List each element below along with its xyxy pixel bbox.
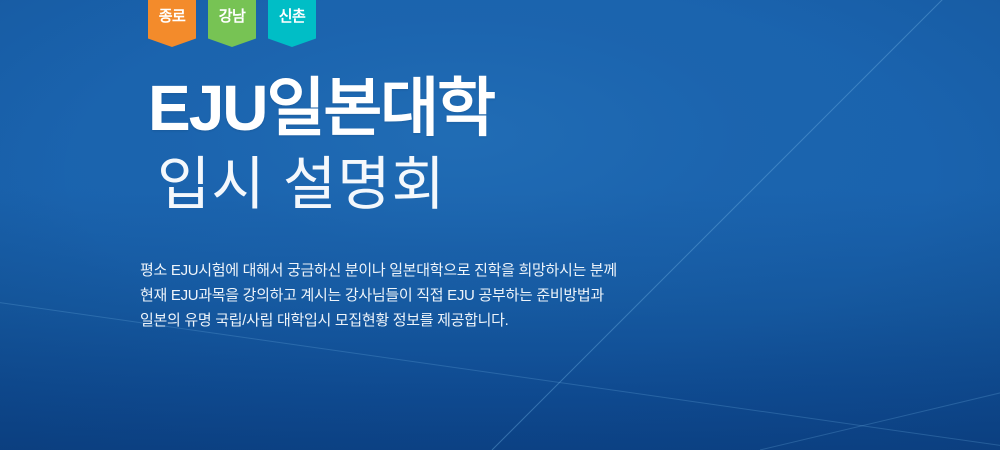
headline: EJU일본대학 입시 설명회 (148, 76, 494, 214)
page-title-primary: EJU일본대학 (148, 76, 494, 140)
tag-sinchon-label: 신촌 (279, 9, 306, 24)
location-tag-group: 종로 강남 신촌 (148, 0, 316, 47)
page-title-secondary: 입시 설명회 (157, 156, 494, 214)
description-line-2: 현재 EJU과목을 강의하고 계시는 강사님들이 직접 EJU 공부하는 준비방… (140, 283, 617, 308)
description-line-1: 평소 EJU시험에 대해서 궁금하신 분이나 일본대학으로 진학을 희망하시는 … (140, 258, 617, 283)
tag-jongno-label: 종로 (159, 9, 186, 24)
eju-seminar-banner: 종로 강남 신촌 EJU일본대학 입시 설명회 평소 EJU시험에 대해서 궁금… (0, 0, 1000, 450)
background-vignette (0, 0, 1000, 450)
description-line-3: 일본의 유명 국립/사립 대학입시 모집현황 정보를 제공합니다. (140, 308, 617, 333)
description-paragraph: 평소 EJU시험에 대해서 궁금하신 분이나 일본대학으로 진학을 희망하시는 … (140, 258, 617, 333)
tag-sinchon[interactable]: 신촌 (268, 0, 316, 47)
tag-gangnam-label: 강남 (219, 9, 246, 24)
tag-jongno[interactable]: 종로 (148, 0, 196, 47)
tag-gangnam[interactable]: 강남 (208, 0, 256, 47)
